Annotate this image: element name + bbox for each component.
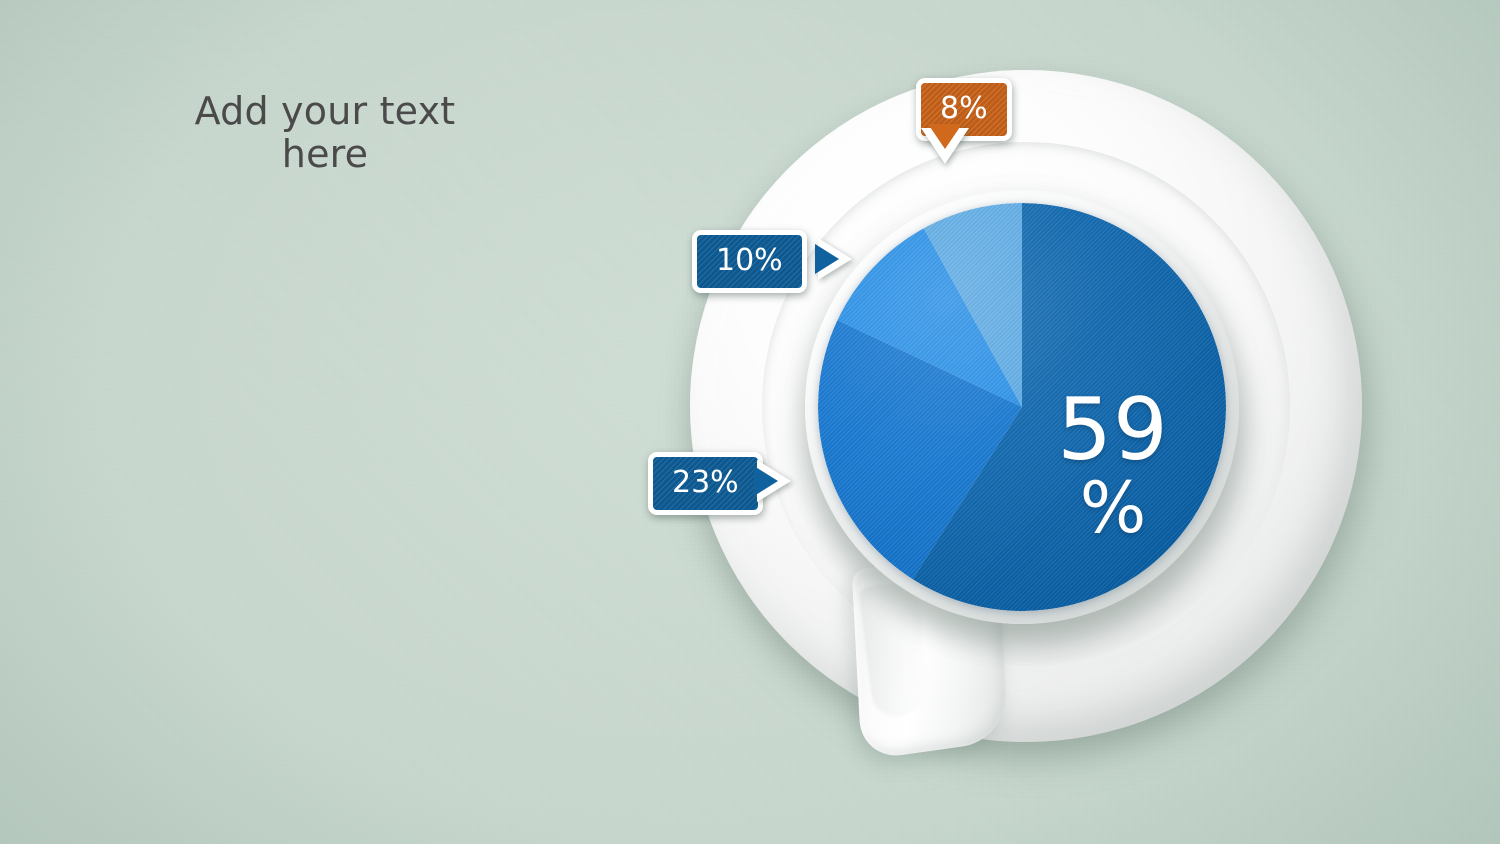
callout-label: 23%: [672, 465, 739, 500]
callout-23-percent[interactable]: 23%: [648, 452, 763, 515]
pie-svg: [818, 203, 1226, 611]
callout-label: 10%: [716, 243, 783, 278]
slide-canvas: Add your text here 59 % 8% 10% 23%: [0, 0, 1500, 844]
callout-label: 8%: [940, 91, 988, 126]
callout-10-percent[interactable]: 10%: [692, 230, 807, 293]
pie-slices[interactable]: [818, 203, 1226, 611]
page-title[interactable]: Add your text here: [130, 90, 520, 177]
pie-chart: [818, 203, 1226, 611]
